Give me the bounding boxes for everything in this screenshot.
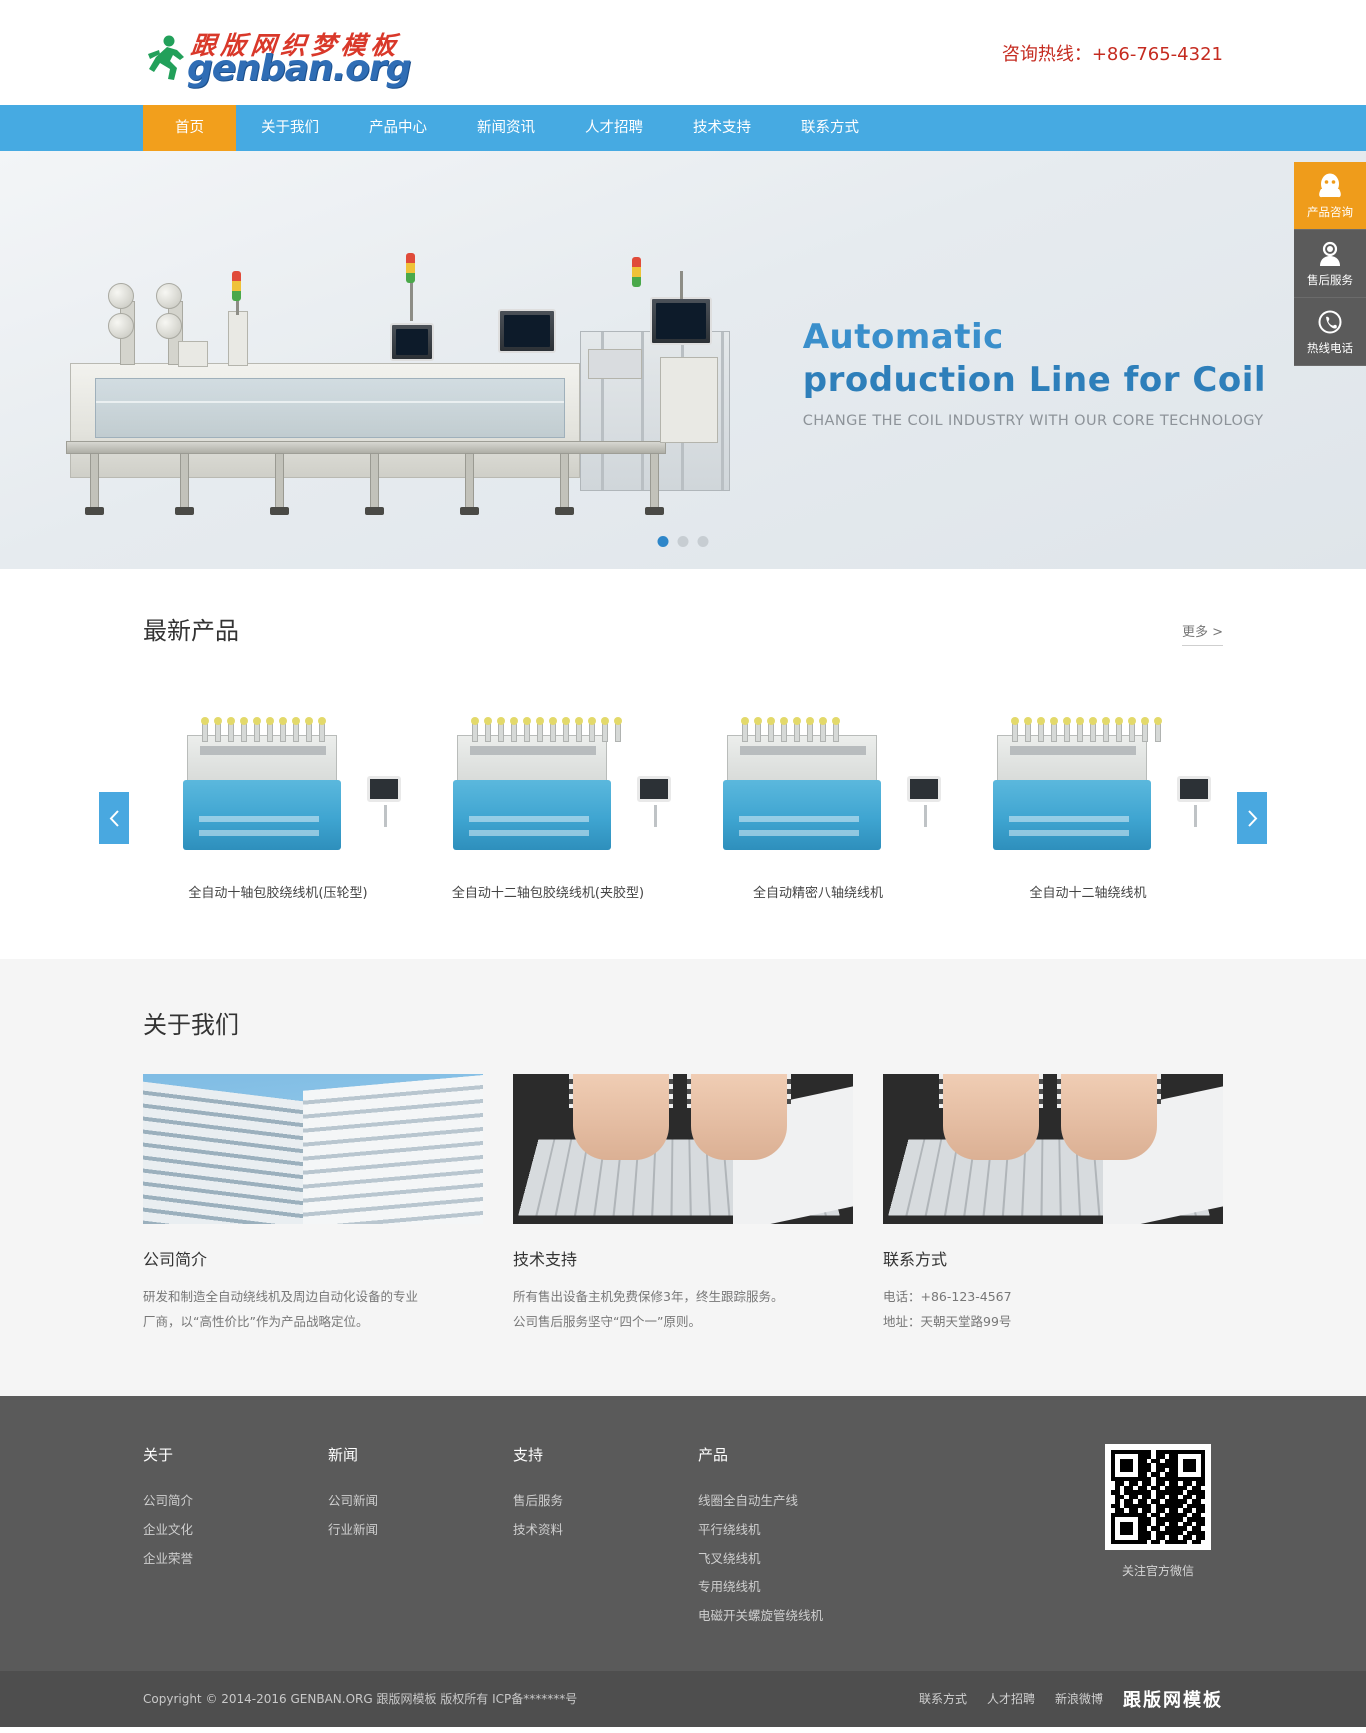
footer-column-2: 支持售后服务技术资料 (513, 1444, 698, 1631)
footer-column-head-0: 关于 (143, 1444, 328, 1465)
logo-english-text: genban.org (187, 48, 410, 89)
about-card-title-0: 公司简介 (143, 1246, 483, 1270)
footer-brand: 跟版网模板 (1123, 1686, 1223, 1712)
side-widget-label-2: 热线电话 (1294, 340, 1366, 356)
nav-item-3[interactable]: 新闻资讯 (452, 105, 560, 151)
about-card-line-2-1: 地址：天朝天堂路99号 (883, 1309, 1223, 1334)
banner-line1: Automatic (803, 316, 1266, 359)
nav-item-6[interactable]: 联系方式 (776, 105, 884, 151)
product-image-3 (993, 680, 1183, 860)
phone-icon (1294, 307, 1366, 337)
qr-caption: 关注官方微信 (1093, 1562, 1223, 1579)
site-footer: 关于公司简介企业文化企业荣誉新闻公司新闻行业新闻支持售后服务技术资料产品线圈全自… (0, 1396, 1366, 1671)
main-nav: 首页关于我们产品中心新闻资讯人才招聘技术支持联系方式 (0, 105, 1366, 151)
banner-dot-0[interactable] (658, 536, 669, 547)
about-card-text-1: 所有售出设备主机免费保修3年，终生跟踪服务。公司售后服务坚守“四个一”原则。 (513, 1284, 853, 1334)
footer-column-3: 产品线圈全自动生产线平行绕线机飞叉绕线机专用绕线机电磁开关螺旋管绕线机 (698, 1444, 988, 1631)
product-carousel: 全自动十轴包胶绕线机(压轮型)全自动十二轴包胶绕线机(夹胶型)全自动精密八轴绕线… (143, 680, 1223, 901)
footer-column-head-2: 支持 (513, 1444, 698, 1465)
headset-support-icon (1294, 239, 1366, 269)
about-title: 关于我们 (143, 1005, 1223, 1040)
copyright-text: Copyright © 2014-2016 GENBAN.ORG 跟版网模板 版… (143, 1690, 577, 1707)
carousel-prev-button[interactable] (99, 792, 129, 844)
banner-pagination[interactable] (658, 536, 709, 547)
product-card-3[interactable]: 全自动十二轴绕线机 (953, 680, 1223, 901)
copyright-link-1[interactable]: 人才招聘 (987, 1690, 1035, 1707)
qq-penguin-icon (1294, 171, 1366, 201)
footer-link-1-1[interactable]: 行业新闻 (328, 1516, 513, 1545)
about-card-line-1-1: 公司售后服务坚守“四个一”原则。 (513, 1309, 853, 1334)
running-man-icon (143, 34, 187, 82)
about-card-line-0-0: 研发和制造全自动绕线机及周边自动化设备的专业 (143, 1284, 483, 1309)
banner-dot-2[interactable] (698, 536, 709, 547)
chevron-right-icon (1247, 810, 1258, 827)
footer-column-0: 关于公司简介企业文化企业荣誉 (143, 1444, 328, 1631)
footer-column-head-3: 产品 (698, 1444, 988, 1465)
hands-on-keyboard-photo (883, 1074, 1223, 1224)
products-title: 最新产品 (143, 611, 239, 646)
nav-item-0[interactable]: 首页 (143, 105, 236, 151)
about-us-section: 关于我们 公司简介研发和制造全自动绕线机及周边自动化设备的专业厂商，以“高性价比… (0, 959, 1366, 1396)
footer-column-head-1: 新闻 (328, 1444, 513, 1465)
footer-link-0-1[interactable]: 企业文化 (143, 1516, 328, 1545)
footer-link-0-2[interactable]: 企业荣誉 (143, 1545, 328, 1574)
nav-item-1[interactable]: 关于我们 (236, 105, 344, 151)
side-widget-0[interactable]: 产品咨询 (1294, 162, 1366, 230)
side-widget-label-1: 售后服务 (1294, 272, 1366, 288)
product-image-2 (723, 680, 913, 860)
wechat-qr-block: 关注官方微信 (1093, 1444, 1223, 1631)
footer-link-3-1[interactable]: 平行绕线机 (698, 1516, 988, 1545)
copyright-link-2[interactable]: 新浪微博 (1055, 1690, 1103, 1707)
office-building-photo (143, 1074, 483, 1224)
chevron-left-icon (109, 810, 120, 827)
copyright-bar: Copyright © 2014-2016 GENBAN.ORG 跟版网模板 版… (0, 1671, 1366, 1727)
about-card-line-1-0: 所有售出设备主机免费保修3年，终生跟踪服务。 (513, 1284, 853, 1309)
footer-link-0-0[interactable]: 公司简介 (143, 1487, 328, 1516)
qr-code-icon (1105, 1444, 1211, 1550)
site-logo[interactable]: 跟版网织梦模板 genban.org (143, 22, 483, 84)
about-card-0[interactable]: 公司简介研发和制造全自动绕线机及周边自动化设备的专业厂商，以“高性价比”作为产品… (143, 1074, 483, 1334)
footer-link-3-2[interactable]: 飞叉绕线机 (698, 1545, 988, 1574)
product-name-0: 全自动十轴包胶绕线机(压轮型) (143, 882, 413, 901)
footer-link-3-0[interactable]: 线圈全自动生产线 (698, 1487, 988, 1516)
site-header: 跟版网织梦模板 genban.org 咨询热线：+86-765-4321 (0, 0, 1366, 105)
carousel-next-button[interactable] (1237, 792, 1267, 844)
side-widget-label-0: 产品咨询 (1294, 204, 1366, 220)
product-image-1 (453, 680, 643, 860)
nav-item-4[interactable]: 人才招聘 (560, 105, 668, 151)
hero-banner: Automatic production Line for Coil CHANG… (0, 151, 1366, 569)
product-name-3: 全自动十二轴绕线机 (953, 882, 1223, 901)
banner-subtitle: CHANGE THE COIL INDUSTRY WITH OUR CORE T… (803, 413, 1266, 429)
nav-item-5[interactable]: 技术支持 (668, 105, 776, 151)
about-card-text-2: 电话：+86-123-4567地址：天朝天堂路99号 (883, 1284, 1223, 1334)
page-root: 跟版网织梦模板 genban.org 咨询热线：+86-765-4321 首页关… (0, 0, 1366, 1727)
about-card-title-2: 联系方式 (883, 1246, 1223, 1270)
hotline-text: 咨询热线：+86-765-4321 (1002, 40, 1223, 66)
product-card-1[interactable]: 全自动十二轴包胶绕线机(夹胶型) (413, 680, 683, 901)
about-card-1[interactable]: 技术支持所有售出设备主机免费保修3年，终生跟踪服务。公司售后服务坚守“四个一”原… (513, 1074, 853, 1334)
side-widget-1[interactable]: 售后服务 (1294, 230, 1366, 298)
footer-link-1-0[interactable]: 公司新闻 (328, 1487, 513, 1516)
hands-on-keyboard-photo (513, 1074, 853, 1224)
product-name-2: 全自动精密八轴绕线机 (683, 882, 953, 901)
production-line-photo (60, 271, 720, 531)
nav-item-2[interactable]: 产品中心 (344, 105, 452, 151)
product-card-0[interactable]: 全自动十轴包胶绕线机(压轮型) (143, 680, 413, 901)
copyright-link-0[interactable]: 联系方式 (919, 1690, 967, 1707)
products-more-link[interactable]: 更多 > (1182, 621, 1223, 646)
footer-link-3-4[interactable]: 电磁开关螺旋管绕线机 (698, 1602, 988, 1631)
footer-column-1: 新闻公司新闻行业新闻 (328, 1444, 513, 1631)
banner-dot-1[interactable] (678, 536, 689, 547)
banner-line2: production Line for Coil (803, 359, 1266, 402)
about-card-line-2-0: 电话：+86-123-4567 (883, 1284, 1223, 1309)
footer-link-2-0[interactable]: 售后服务 (513, 1487, 698, 1516)
banner-copy: Automatic production Line for Coil CHANG… (803, 316, 1266, 429)
side-widget-2[interactable]: 热线电话 (1294, 298, 1366, 366)
about-card-2[interactable]: 联系方式电话：+86-123-4567地址：天朝天堂路99号 (883, 1074, 1223, 1334)
product-card-2[interactable]: 全自动精密八轴绕线机 (683, 680, 953, 901)
about-card-text-0: 研发和制造全自动绕线机及周边自动化设备的专业厂商，以“高性价比”作为产品战略定位… (143, 1284, 483, 1334)
footer-link-2-1[interactable]: 技术资料 (513, 1516, 698, 1545)
floating-contact-sidebar: 产品咨询售后服务热线电话 (1294, 162, 1366, 366)
latest-products-section: 最新产品 更多 > 全自动十轴包胶绕线机(压轮型)全自动十二轴包胶绕线机(夹胶型… (0, 569, 1366, 959)
about-card-line-0-1: 厂商，以“高性价比”作为产品战略定位。 (143, 1309, 483, 1334)
product-name-1: 全自动十二轴包胶绕线机(夹胶型) (413, 882, 683, 901)
about-card-title-1: 技术支持 (513, 1246, 853, 1270)
footer-link-3-3[interactable]: 专用绕线机 (698, 1573, 988, 1602)
product-image-0 (183, 680, 373, 860)
